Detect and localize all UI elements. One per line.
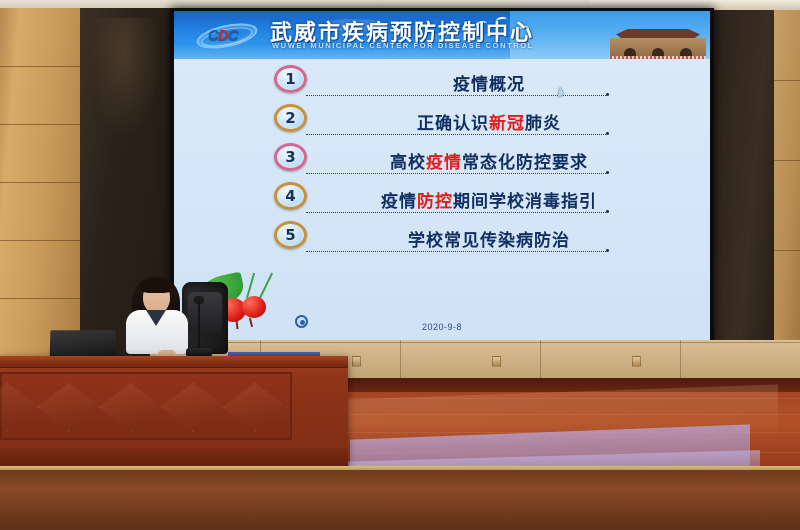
- agenda-number-badge: 4: [274, 182, 307, 210]
- speaker-podium: [0, 356, 348, 470]
- agenda-leader-line: [306, 134, 606, 135]
- presentation-slide: CDC 武威市疾病预防控制中心 WUWEI MUNICIPAL CENTER F…: [174, 11, 710, 340]
- agenda-number-badge: 3: [274, 143, 307, 171]
- wall-accent-block: [492, 356, 501, 367]
- lecture-hall-scene: CDC 武威市疾病预防控制中心 WUWEI MUNICIPAL CENTER F…: [0, 0, 800, 530]
- stage-front-face: [0, 470, 800, 530]
- presenter-bangs: [140, 278, 173, 293]
- podium-front-panel: [0, 372, 292, 440]
- agenda-row: 4 疫情防控期间学校消毒指引: [174, 180, 710, 219]
- agenda-number-badge: 5: [274, 221, 307, 249]
- agenda-number-badge: 1: [274, 65, 307, 93]
- microphone-stand: [198, 300, 200, 352]
- agenda-row: 1 疫情概况: [174, 63, 710, 102]
- agenda-number-badge: 2: [274, 104, 307, 132]
- agenda-leader-dot: [606, 93, 609, 96]
- projection-screen: CDC 武威市疾病预防控制中心 WUWEI MUNICIPAL CENTER F…: [170, 8, 714, 344]
- agenda-row-text: 学校常见传染病防治: [324, 226, 654, 251]
- wall-panel-dark-right: [712, 10, 774, 378]
- cdc-logo-icon: CDC: [196, 17, 258, 51]
- agenda-leader-dot: [606, 210, 609, 213]
- slide-date: 2020-9-8: [174, 322, 710, 332]
- logo-letter-c1: C: [208, 27, 218, 44]
- slide-banner: CDC 武威市疾病预防控制中心 WUWEI MUNICIPAL CENTER F…: [174, 11, 710, 59]
- agenda-row: 3 高校疫情常态化防控要求: [174, 141, 710, 180]
- agenda-row-text: 疫情防控期间学校消毒指引: [324, 187, 654, 212]
- agenda-row-text: 疫情概况: [324, 70, 654, 95]
- agenda-row-text: 高校疫情常态化防控要求: [324, 148, 654, 173]
- logo-letter-c2: C: [228, 27, 238, 44]
- agenda-leader-line: [306, 173, 606, 174]
- banner-city-gate-image: [610, 29, 706, 59]
- agenda-leader-line: [306, 251, 606, 252]
- agenda-list: 1 疫情概况 2 正确认识新冠肺炎 3 高校疫情常态化防控要求: [174, 63, 710, 258]
- agenda-leader-line: [306, 212, 606, 213]
- agenda-leader-dot: [606, 249, 609, 252]
- presenter-person: [118, 272, 208, 352]
- agenda-row-text: 正确认识新冠肺炎: [324, 109, 654, 134]
- agenda-leader-dot: [606, 132, 609, 135]
- banner-subtitle-en: WUWEI MUNICIPAL CENTER FOR DISEASE CONTR…: [272, 41, 534, 50]
- agenda-leader-dot: [606, 171, 609, 174]
- wall-panel-left-wood: [0, 8, 80, 378]
- wall-accent-block: [352, 356, 361, 367]
- logo-letter-d: D: [218, 27, 228, 44]
- agenda-row: 5 学校常见传染病防治: [174, 219, 710, 258]
- wall-accent-block: [632, 356, 641, 367]
- wall-panel-right-wood: [774, 10, 800, 378]
- agenda-row: 2 正确认识新冠肺炎: [174, 102, 710, 141]
